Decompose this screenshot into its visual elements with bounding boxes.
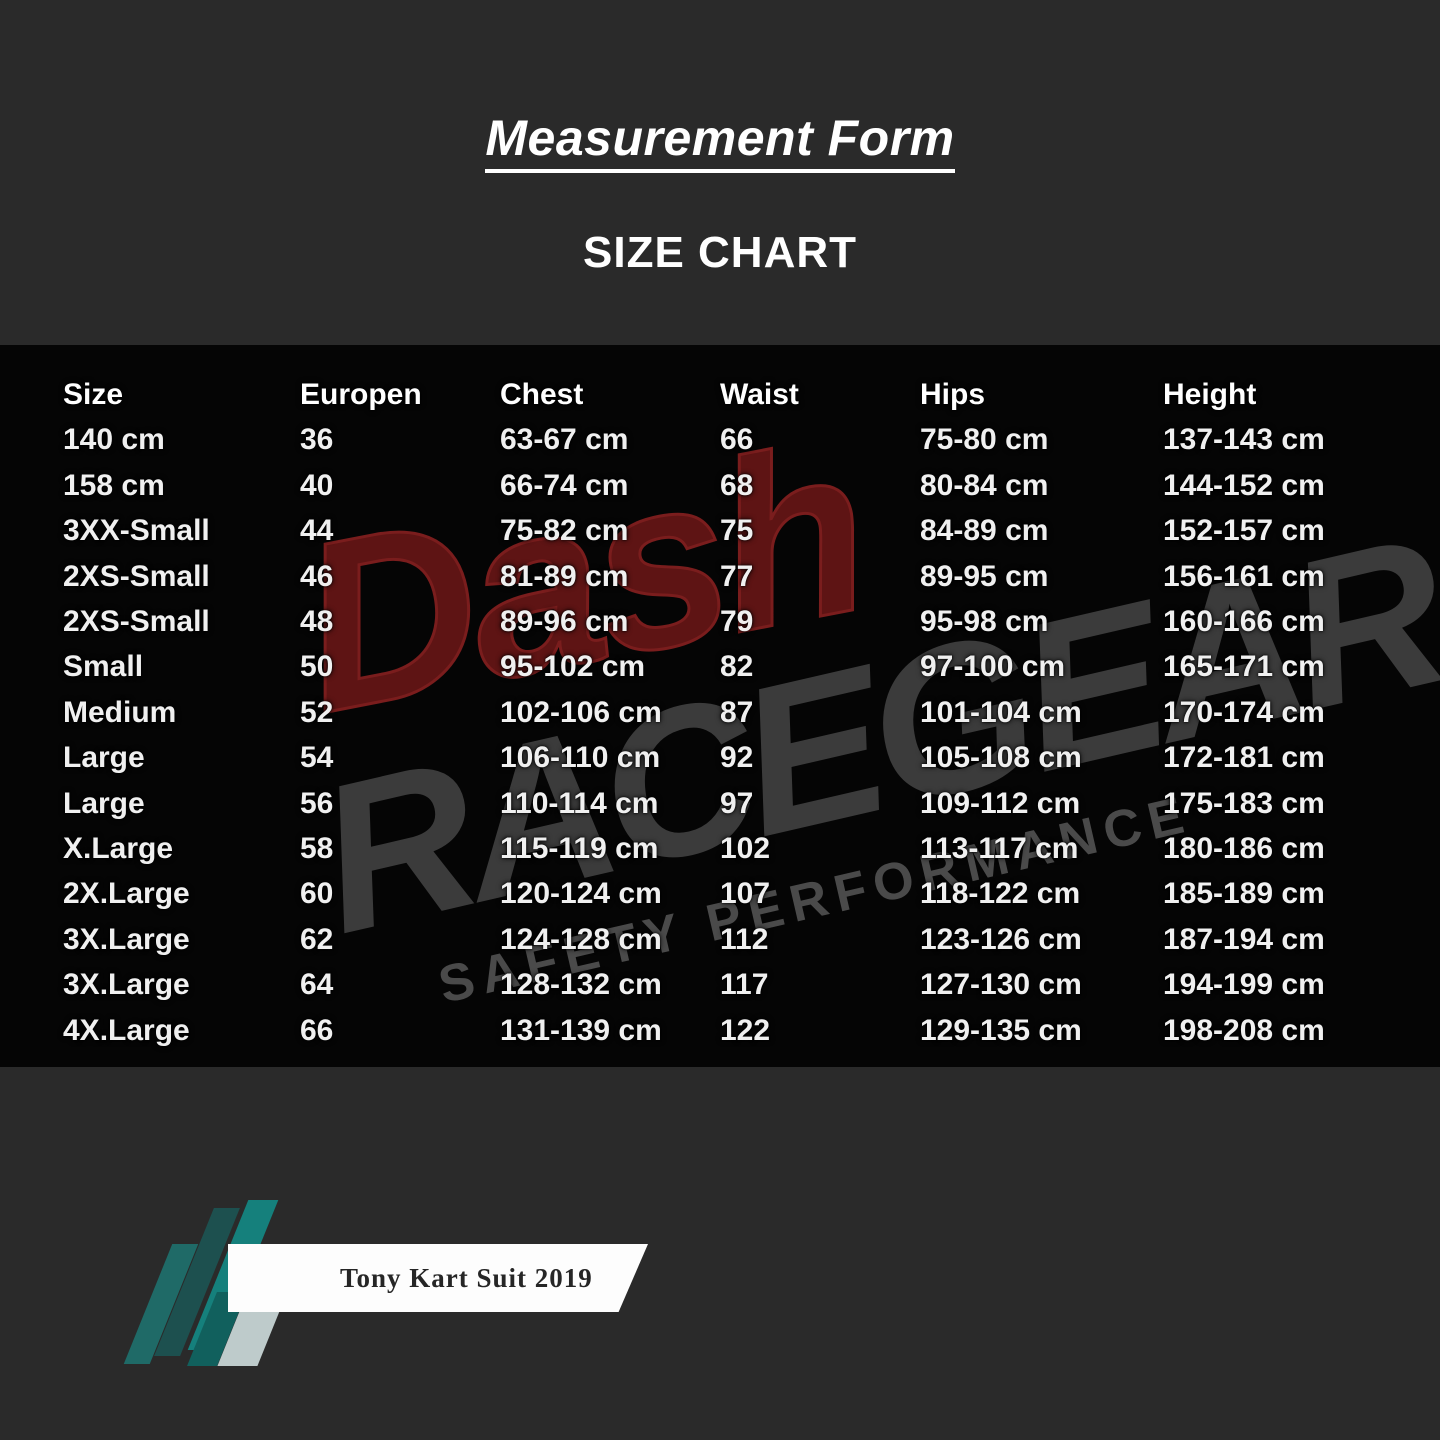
cell-europen: 50 — [300, 650, 333, 684]
cell-size: X.Large — [63, 832, 173, 866]
table-row: 2XS-Small4889-96 cm7995-98 cm160-166 cm — [0, 605, 1440, 650]
table-row: 140 cm3663-67 cm6675-80 cm137-143 cm — [0, 423, 1440, 468]
cell-size: 2XS-Small — [63, 560, 210, 594]
cell-waist: 79 — [720, 605, 753, 639]
cell-hips: 95-98 cm — [920, 605, 1048, 639]
product-ribbon: Tony Kart Suit 2019 — [228, 1244, 648, 1312]
cell-europen: 40 — [300, 469, 333, 503]
table-row: 3X.Large64128-132 cm117127-130 cm194-199… — [0, 968, 1440, 1013]
table-header-row: SizeEuropenChestWaistHipsHeight — [0, 378, 1440, 423]
cell-hips: 105-108 cm — [920, 741, 1082, 775]
table-row: 2XS-Small4681-89 cm7789-95 cm156-161 cm — [0, 560, 1440, 605]
cell-chest: 89-96 cm — [500, 605, 628, 639]
cell-chest: 115-119 cm — [500, 832, 658, 866]
cell-waist: 92 — [720, 741, 753, 775]
cell-height: 144-152 cm — [1163, 469, 1325, 503]
column-header-hips: Hips — [920, 378, 985, 412]
cell-chest: 81-89 cm — [500, 560, 628, 594]
cell-hips: 84-89 cm — [920, 514, 1048, 548]
column-header-height: Height — [1163, 378, 1256, 412]
cell-height: 160-166 cm — [1163, 605, 1325, 639]
cell-europen: 46 — [300, 560, 333, 594]
cell-height: 185-189 cm — [1163, 877, 1325, 911]
cell-waist: 66 — [720, 423, 753, 457]
cell-size: 2X.Large — [63, 877, 190, 911]
cell-hips: 89-95 cm — [920, 560, 1048, 594]
cell-chest: 131-139 cm — [500, 1014, 662, 1048]
cell-hips: 75-80 cm — [920, 423, 1048, 457]
cell-size: Large — [63, 741, 145, 775]
table-row: 3XX-Small4475-82 cm7584-89 cm152-157 cm — [0, 514, 1440, 559]
table-row: 4X.Large66131-139 cm122129-135 cm198-208… — [0, 1014, 1440, 1059]
cell-chest: 110-114 cm — [500, 787, 658, 821]
cell-size: Large — [63, 787, 145, 821]
cell-europen: 44 — [300, 514, 333, 548]
cell-waist: 107 — [720, 877, 770, 911]
cell-waist: 97 — [720, 787, 753, 821]
cell-europen: 66 — [300, 1014, 333, 1048]
cell-hips: 101-104 cm — [920, 696, 1082, 730]
table-row: X.Large58115-119 cm102113-117 cm180-186 … — [0, 832, 1440, 877]
cell-size: 158 cm — [63, 469, 165, 503]
table-row: Large56110-114 cm97109-112 cm175-183 cm — [0, 787, 1440, 832]
cell-chest: 75-82 cm — [500, 514, 628, 548]
cell-europen: 48 — [300, 605, 333, 639]
cell-waist: 112 — [720, 923, 768, 957]
size-chart-panel: Dash RACEGEAR SAFETY PERFORMANCE SizeEur… — [0, 345, 1440, 1067]
table-row: Medium52102-106 cm87101-104 cm170-174 cm — [0, 696, 1440, 741]
cell-europen: 52 — [300, 696, 333, 730]
cell-chest: 128-132 cm — [500, 968, 662, 1002]
cell-hips: 118-122 cm — [920, 877, 1080, 911]
page-subtitle: SIZE CHART — [0, 228, 1440, 278]
cell-size: 3X.Large — [63, 923, 190, 957]
cell-height: 170-174 cm — [1163, 696, 1325, 730]
table-row: Large54106-110 cm92105-108 cm172-181 cm — [0, 741, 1440, 786]
cell-hips: 123-126 cm — [920, 923, 1082, 957]
cell-chest: 102-106 cm — [500, 696, 662, 730]
cell-height: 187-194 cm — [1163, 923, 1325, 957]
cell-europen: 58 — [300, 832, 333, 866]
cell-size: Medium — [63, 696, 176, 730]
cell-height: 172-181 cm — [1163, 741, 1325, 775]
cell-height: 175-183 cm — [1163, 787, 1325, 821]
cell-europen: 36 — [300, 423, 333, 457]
cell-size: 140 cm — [63, 423, 165, 457]
cell-europen: 56 — [300, 787, 333, 821]
product-label: Tony Kart Suit 2019 — [340, 1263, 593, 1294]
table-row: 158 cm4066-74 cm6880-84 cm144-152 cm — [0, 469, 1440, 514]
cell-hips: 80-84 cm — [920, 469, 1048, 503]
cell-hips: 109-112 cm — [920, 787, 1080, 821]
cell-europen: 54 — [300, 741, 333, 775]
cell-height: 152-157 cm — [1163, 514, 1325, 548]
header-band: Measurement Form SIZE CHART — [0, 0, 1440, 345]
table-row: 2X.Large60120-124 cm107118-122 cm185-189… — [0, 877, 1440, 922]
cell-waist: 122 — [720, 1014, 770, 1048]
cell-chest: 66-74 cm — [500, 469, 628, 503]
cell-europen: 60 — [300, 877, 333, 911]
cell-hips: 97-100 cm — [920, 650, 1065, 684]
cell-height: 137-143 cm — [1163, 423, 1325, 457]
cell-europen: 62 — [300, 923, 333, 957]
cell-height: 180-186 cm — [1163, 832, 1325, 866]
brand-logo: Tony Kart Suit 2019 — [140, 1196, 660, 1366]
column-header-europen: Europen — [300, 378, 422, 412]
table-row: Small5095-102 cm8297-100 cm165-171 cm — [0, 650, 1440, 695]
cell-hips: 129-135 cm — [920, 1014, 1082, 1048]
cell-height: 156-161 cm — [1163, 560, 1325, 594]
cell-waist: 75 — [720, 514, 753, 548]
cell-chest: 120-124 cm — [500, 877, 662, 911]
cell-height: 165-171 cm — [1163, 650, 1325, 684]
size-chart-page: Measurement Form SIZE CHART Dash RACEGEA… — [0, 0, 1440, 1440]
cell-height: 198-208 cm — [1163, 1014, 1325, 1048]
cell-waist: 68 — [720, 469, 753, 503]
cell-height: 194-199 cm — [1163, 968, 1325, 1002]
cell-chest: 106-110 cm — [500, 741, 660, 775]
column-header-size: Size — [63, 378, 123, 412]
cell-size: 4X.Large — [63, 1014, 190, 1048]
cell-size: 3X.Large — [63, 968, 190, 1002]
column-header-waist: Waist — [720, 378, 799, 412]
cell-hips: 113-117 cm — [920, 832, 1078, 866]
cell-europen: 64 — [300, 968, 333, 1002]
cell-hips: 127-130 cm — [920, 968, 1082, 1002]
cell-size: 3XX-Small — [63, 514, 210, 548]
cell-size: 2XS-Small — [63, 605, 210, 639]
cell-chest: 95-102 cm — [500, 650, 645, 684]
page-title-text: Measurement Form — [485, 112, 954, 173]
table-row: 3X.Large62124-128 cm112123-126 cm187-194… — [0, 923, 1440, 968]
cell-waist: 87 — [720, 696, 753, 730]
cell-chest: 63-67 cm — [500, 423, 628, 457]
cell-waist: 117 — [720, 968, 768, 1002]
cell-waist: 102 — [720, 832, 770, 866]
size-chart-table: SizeEuropenChestWaistHipsHeight140 cm366… — [0, 345, 1440, 1067]
cell-waist: 82 — [720, 650, 753, 684]
cell-waist: 77 — [720, 560, 753, 594]
cell-size: Small — [63, 650, 143, 684]
page-title: Measurement Form — [0, 112, 1440, 173]
column-header-chest: Chest — [500, 378, 583, 412]
cell-chest: 124-128 cm — [500, 923, 662, 957]
